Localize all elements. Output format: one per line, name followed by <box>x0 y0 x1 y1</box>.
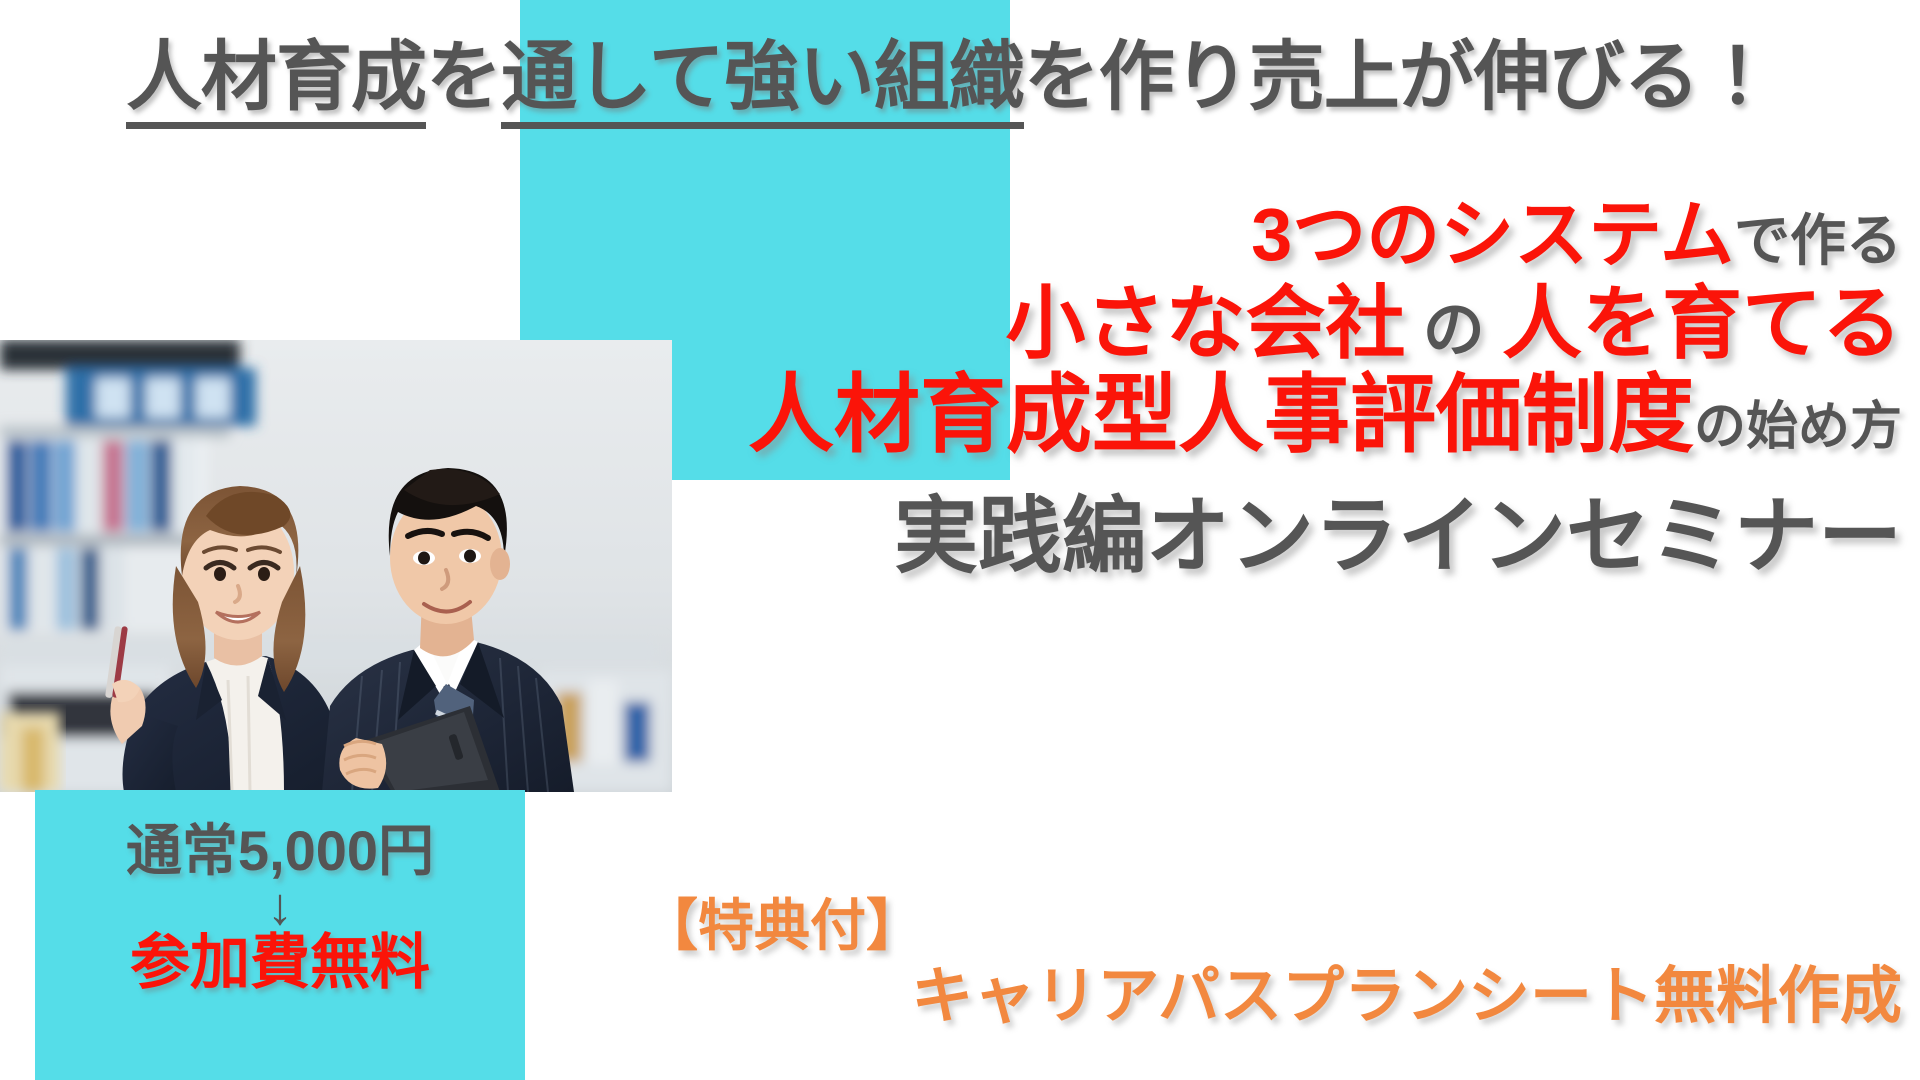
price-free-badge: 参加費無料 <box>35 930 525 996</box>
copy-line-3-red: 人材育成型人事評価制度 <box>748 367 1694 463</box>
copy-line-2: 小さな会社 の 人を育てる <box>560 284 1902 364</box>
copy-line-4-seminar-type: 実践編オンラインセミナー <box>560 494 1902 578</box>
bonus-block: 【特典付】 キャリアパスプランシート無料作成 <box>600 895 1920 1031</box>
headline-part-2: を <box>426 35 501 120</box>
price-block: 通常5,000円 ↓ 参加費無料 <box>35 820 525 996</box>
headline-part-3: 通して強い組織 <box>501 35 1024 129</box>
headline-part-4: を作り売上が伸びる ！ <box>1024 35 1794 120</box>
seminar-copy: 3つのシステムで作る 小さな会社 の 人を育てる 人材育成型人事評価制度の始め方… <box>560 198 1920 584</box>
page-title: 人材育成を通して強い組織を作り売上が伸びる ！ <box>0 38 1920 118</box>
copy-line-2-red-b: 人を育てる <box>1502 279 1902 368</box>
price-original: 通常5,000円 <box>35 820 525 882</box>
copy-line-1: 3つのシステムで作る <box>560 198 1902 272</box>
headline-part-1: 人材育成 <box>126 35 426 129</box>
copy-line-1-red: 3つのシステム <box>1251 193 1734 276</box>
copy-line-3-gray: の始め方 <box>1694 398 1902 456</box>
arrow-down-icon: ↓ <box>35 884 525 931</box>
copy-line-3: 人材育成型人事評価制度の始め方 <box>560 372 1902 458</box>
copy-line-2-gray: の <box>1406 296 1502 365</box>
bonus-description: キャリアパスプランシート無料作成 <box>600 962 1902 1031</box>
bonus-tag: 【特典付】 <box>600 895 1902 958</box>
copy-line-2-red-a: 小さな会社 <box>1006 279 1406 368</box>
seminar-poster: 人材育成を通して強い組織を作り売上が伸びる ！ 3つのシステムで作る 小さな会社… <box>0 0 1920 1080</box>
copy-line-1-gray: で作る <box>1734 209 1902 272</box>
